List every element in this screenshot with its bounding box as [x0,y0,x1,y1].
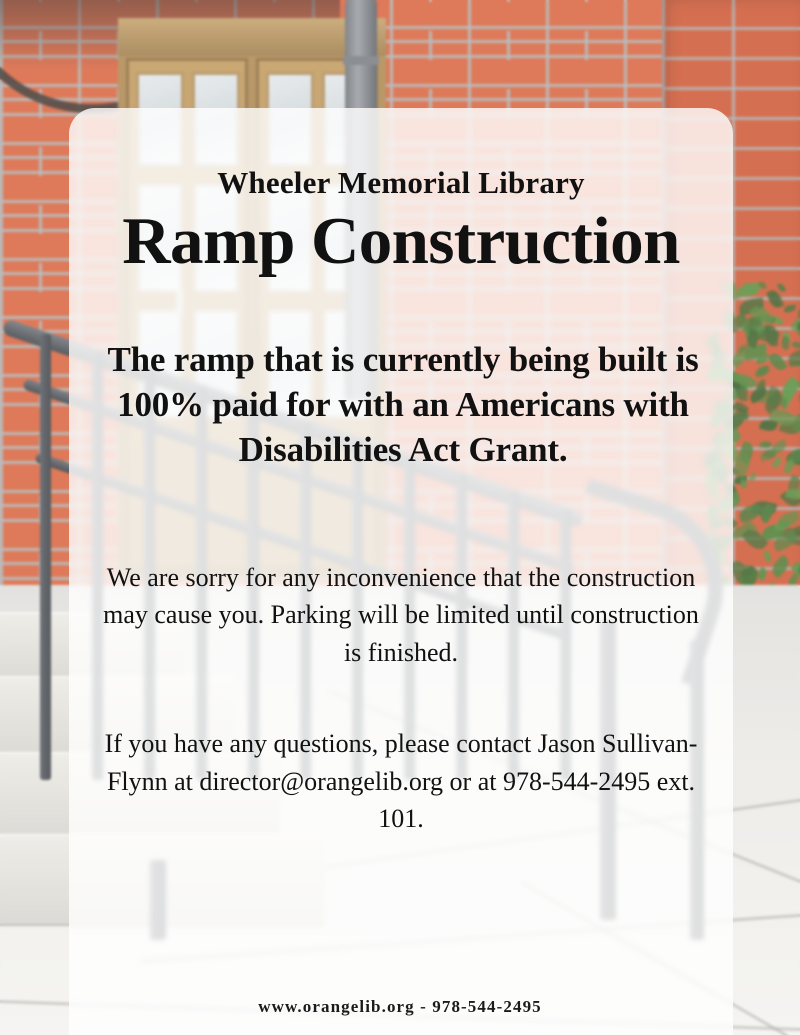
shrub-leaf [739,283,760,296]
shrub-leaf [741,479,747,488]
shrub-leaf [769,555,793,579]
shrub-leaf [754,365,771,378]
footer-contact-line: www.orangelib.org - 978-544-2495 [0,997,800,1017]
apology-notice: We are sorry for any inconvenience that … [101,559,701,671]
shrub-leaf [787,348,800,367]
shrub-leaf [769,439,788,455]
shrub-leaf [738,503,763,522]
poster: Wheeler Memorial Library Ramp Constructi… [0,0,800,1035]
railing-baluster [40,334,51,780]
poster-content: Wheeler Memorial Library Ramp Constructi… [69,108,733,1035]
organization-name: Wheeler Memorial Library [83,166,719,200]
shrub-leaf [764,550,772,562]
contact-information: If you have any questions, please contac… [91,725,711,837]
shrub-leaf [791,340,800,350]
shrub-leaf [765,325,778,346]
shrub-leaf [759,418,778,433]
shrub-leaf [747,471,757,482]
shrub-leaf [777,510,800,528]
shrub-leaf [767,350,787,373]
shrub-leaf [770,456,784,469]
funding-statement: The ramp that is currently being built i… [83,338,723,472]
page-title: Ramp Construction [83,206,719,276]
shrub-leaf [759,282,768,290]
shrub-leaf [784,305,796,313]
shrub-leaf [756,567,768,581]
downpipe-collar [343,56,379,65]
